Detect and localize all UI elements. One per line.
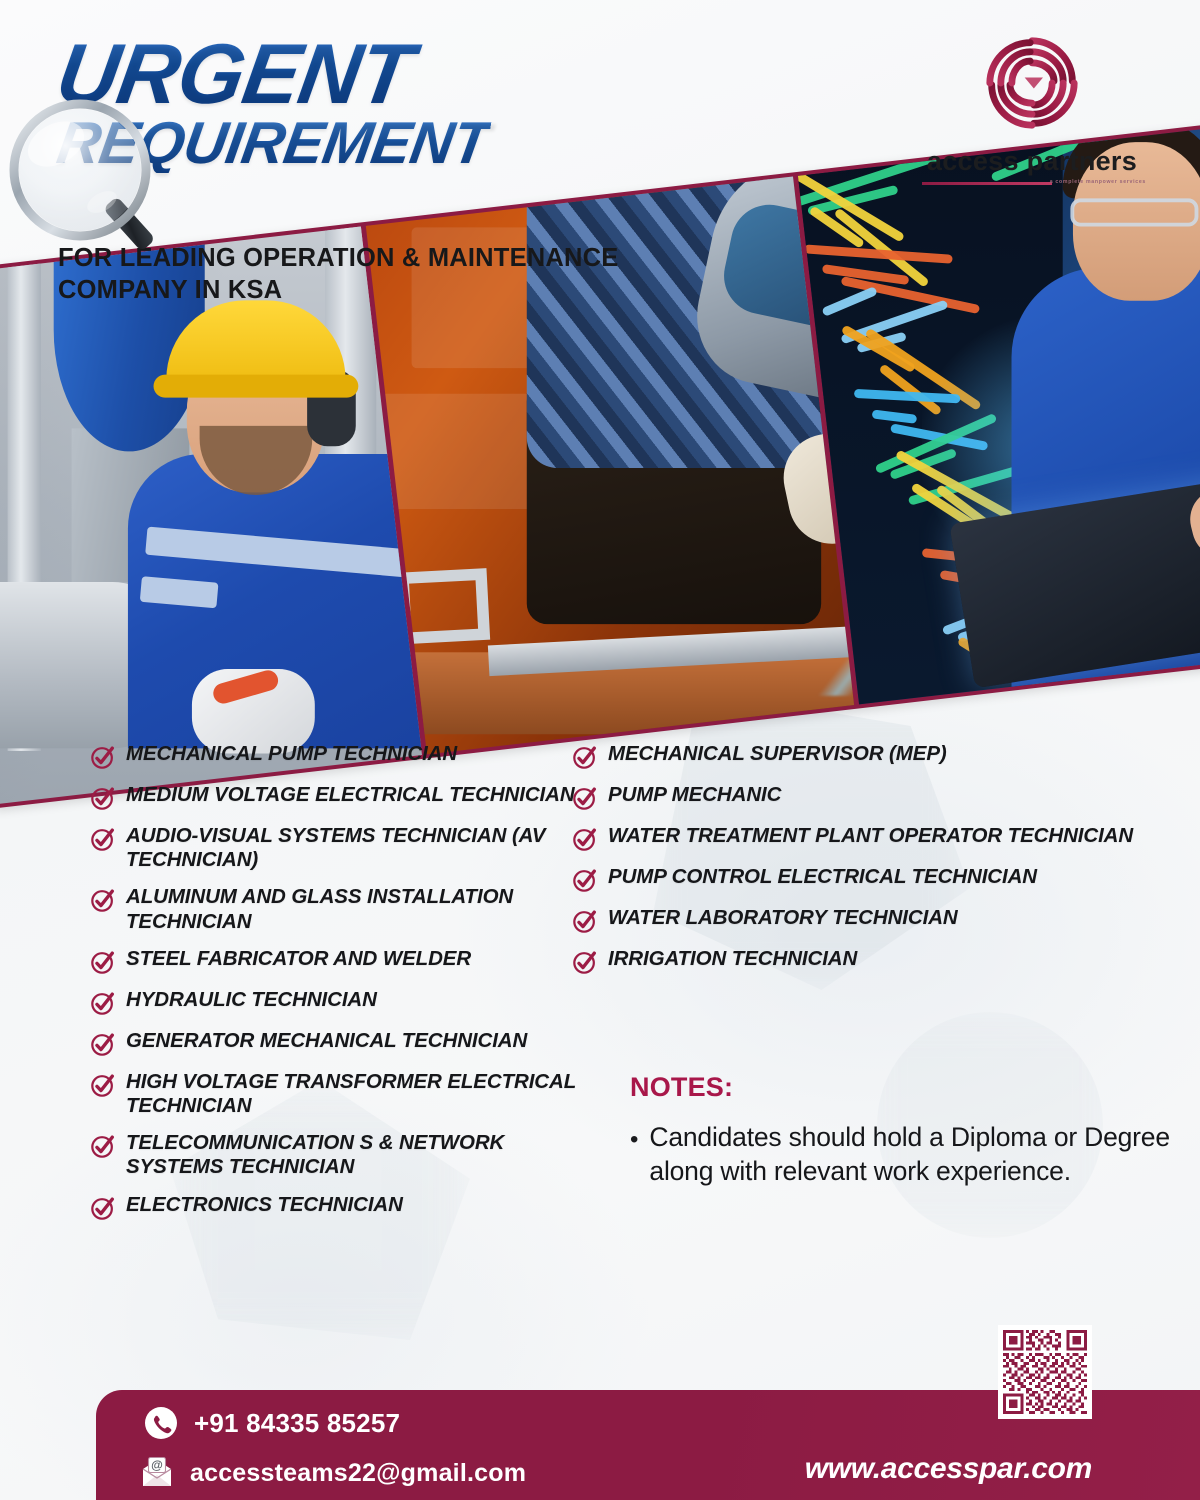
circle-check-icon bbox=[572, 867, 598, 893]
job-list-item: STEEL FABRICATOR AND WELDER bbox=[90, 947, 580, 975]
job-list-left-column: MECHANICAL PUMP TECHNICIAN MEDIUM VOLTAG… bbox=[90, 742, 580, 1234]
brand-logo: access partners a complete manpower serv… bbox=[912, 28, 1152, 189]
notes-title: NOTES: bbox=[630, 1072, 1175, 1103]
job-list-item: PUMP MECHANIC bbox=[572, 783, 1180, 811]
brand-rule: a complete manpower services bbox=[912, 179, 1152, 189]
job-list-right-column: MECHANICAL SUPERVISOR (MEP) PUMP MECHANI… bbox=[572, 742, 1180, 988]
circle-check-icon bbox=[90, 1133, 116, 1159]
banner-photo-pump-technician bbox=[0, 226, 422, 804]
circle-check-icon bbox=[90, 826, 116, 852]
job-title: WATER TREATMENT PLANT OPERATOR TECHNICIA… bbox=[608, 824, 1133, 848]
contact-email[interactable]: @ accessteams22@gmail.com bbox=[140, 1456, 526, 1490]
job-title: WATER LABORATORY TECHNICIAN bbox=[608, 906, 958, 930]
brand-tagline: a complete manpower services bbox=[1050, 179, 1146, 185]
job-list-item: AUDIO-VISUAL SYSTEMS TECHNICIAN (AV TECH… bbox=[90, 824, 580, 872]
circle-check-icon bbox=[90, 1031, 116, 1057]
job-list-item: MECHANICAL PUMP TECHNICIAN bbox=[90, 742, 580, 770]
magnifying-glass-icon bbox=[0, 86, 170, 264]
email-address: accessteams22@gmail.com bbox=[190, 1459, 526, 1488]
recruitment-poster: URGENT REQUIREMENT FOR LEADING OPERATION… bbox=[0, 0, 1200, 1500]
job-list-item: WATER LABORATORY TECHNICIAN bbox=[572, 906, 1180, 934]
circle-check-icon bbox=[572, 744, 598, 770]
website-url[interactable]: www.accesspar.com bbox=[805, 1452, 1092, 1486]
job-title: MECHANICAL PUMP TECHNICIAN bbox=[126, 742, 457, 766]
notes-item-text: Candidates should hold a Diploma or Degr… bbox=[649, 1120, 1175, 1189]
job-title: STEEL FABRICATOR AND WELDER bbox=[126, 947, 471, 971]
circle-check-icon bbox=[90, 744, 116, 770]
job-list-item: HIGH VOLTAGE TRANSFORMER ELECTRICAL TECH… bbox=[90, 1070, 580, 1118]
svg-text:@: @ bbox=[151, 1458, 163, 1472]
job-title: AUDIO-VISUAL SYSTEMS TECHNICIAN (AV TECH… bbox=[126, 824, 580, 872]
contact-phone[interactable]: +91 84335 85257 bbox=[144, 1406, 400, 1440]
job-title: ALUMINUM AND GLASS INSTALLATION TECHNICI… bbox=[126, 885, 580, 933]
job-list-item: MECHANICAL SUPERVISOR (MEP) bbox=[572, 742, 1180, 770]
job-list-item: ELECTRONICS TECHNICIAN bbox=[90, 1193, 580, 1221]
job-title: IRRIGATION TECHNICIAN bbox=[608, 947, 857, 971]
job-title: PUMP MECHANIC bbox=[608, 783, 781, 807]
notes-section: NOTES: • Candidates should hold a Diplom… bbox=[630, 1072, 1175, 1189]
circle-check-icon bbox=[572, 826, 598, 852]
job-title: HIGH VOLTAGE TRANSFORMER ELECTRICAL TECH… bbox=[126, 1070, 580, 1118]
circle-check-icon bbox=[572, 949, 598, 975]
circle-check-icon bbox=[90, 785, 116, 811]
notes-item: • Candidates should hold a Diploma or De… bbox=[630, 1120, 1175, 1189]
phone-icon bbox=[144, 1406, 178, 1440]
photo-banner bbox=[0, 124, 1200, 809]
job-title: MECHANICAL SUPERVISOR (MEP) bbox=[608, 742, 947, 766]
job-title: MEDIUM VOLTAGE ELECTRICAL TECHNICIAN bbox=[126, 783, 575, 807]
job-list-item: TELECOMMUNICATION S & NETWORK SYSTEMS TE… bbox=[90, 1131, 580, 1179]
job-list-item: HYDRAULIC TECHNICIAN bbox=[90, 988, 580, 1016]
circle-check-icon bbox=[572, 785, 598, 811]
circle-check-icon bbox=[90, 1072, 116, 1098]
job-title: ELECTRONICS TECHNICIAN bbox=[126, 1193, 403, 1217]
phone-number: +91 84335 85257 bbox=[194, 1408, 400, 1439]
qr-code-icon[interactable] bbox=[998, 1325, 1092, 1419]
notes-bullet-glyph: • bbox=[630, 1128, 638, 1189]
email-envelope-icon: @ bbox=[140, 1456, 174, 1490]
job-title: PUMP CONTROL ELECTRICAL TECHNICIAN bbox=[608, 865, 1037, 889]
job-title: GENERATOR MECHANICAL TECHNICIAN bbox=[126, 1029, 527, 1053]
circle-check-icon bbox=[90, 949, 116, 975]
job-list-item: ALUMINUM AND GLASS INSTALLATION TECHNICI… bbox=[90, 885, 580, 933]
job-list-item: IRRIGATION TECHNICIAN bbox=[572, 947, 1180, 975]
circle-check-icon bbox=[572, 908, 598, 934]
circle-check-icon bbox=[90, 1195, 116, 1221]
job-list-item: MEDIUM VOLTAGE ELECTRICAL TECHNICIAN bbox=[90, 783, 580, 811]
circle-check-icon bbox=[90, 990, 116, 1016]
brand-name: access partners bbox=[912, 146, 1152, 177]
job-title: TELECOMMUNICATION S & NETWORK SYSTEMS TE… bbox=[126, 1131, 580, 1179]
job-list-item: GENERATOR MECHANICAL TECHNICIAN bbox=[90, 1029, 580, 1057]
job-list-item: PUMP CONTROL ELECTRICAL TECHNICIAN bbox=[572, 865, 1180, 893]
job-list-item: WATER TREATMENT PLANT OPERATOR TECHNICIA… bbox=[572, 824, 1180, 852]
access-partners-woven-logo-icon bbox=[977, 28, 1087, 138]
job-title: HYDRAULIC TECHNICIAN bbox=[126, 988, 377, 1012]
banner-photo-network-engineer bbox=[798, 128, 1200, 705]
circle-check-icon bbox=[90, 887, 116, 913]
